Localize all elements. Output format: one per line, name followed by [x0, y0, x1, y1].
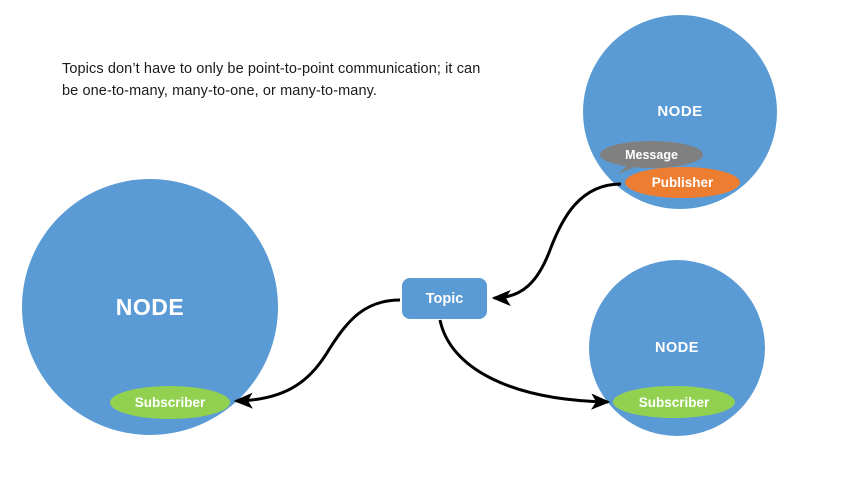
node-bottom-right-label: NODE	[589, 340, 765, 356]
node-left-label: NODE	[22, 294, 278, 321]
publisher-ellipse: Publisher	[625, 167, 740, 198]
node-top-right-label: NODE	[583, 103, 777, 120]
subscriber-ellipse-left: Subscriber	[110, 386, 230, 419]
message-bubble: Message	[600, 141, 703, 168]
arrow-publisher-to-topic	[494, 184, 621, 298]
diagram-canvas: Topics don’t have to only be point-to-po…	[0, 0, 854, 480]
topic-box: Topic	[402, 278, 487, 319]
caption-text: Topics don’t have to only be point-to-po…	[62, 58, 482, 103]
subscriber-ellipse-bottom-right: Subscriber	[613, 386, 735, 418]
arrow-topic-to-bottom-right-subscriber	[440, 320, 608, 402]
